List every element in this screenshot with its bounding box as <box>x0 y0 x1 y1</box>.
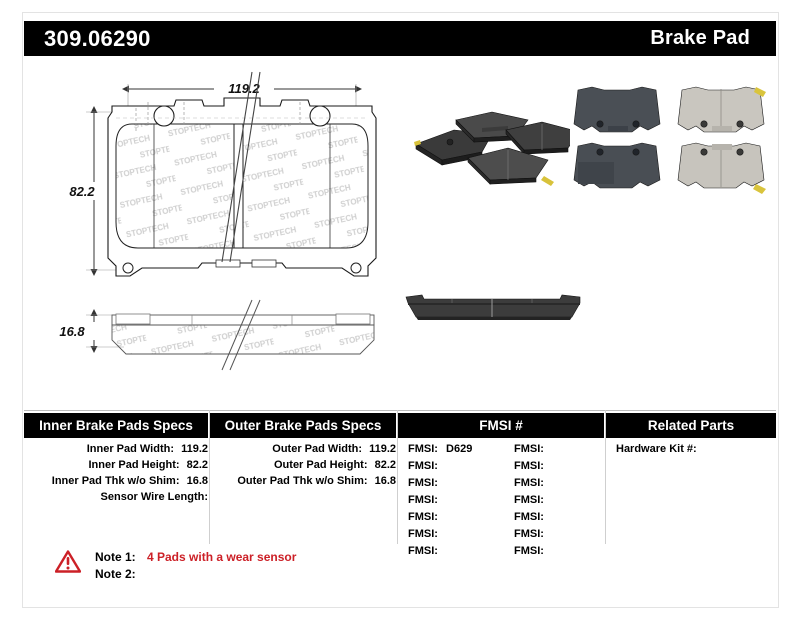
product-type: Brake Pad <box>650 27 750 50</box>
column-separator-2 <box>397 410 398 544</box>
related-hardware-kit-label: Hardware Kit #: <box>616 443 697 455</box>
outer-spec-height-value: 82.2 <box>371 459 396 471</box>
technical-drawing: STOPTECH STOPTECH 119.2 82.2 <box>24 62 404 382</box>
outer-spec-width-label: Outer Pad Width: <box>272 443 362 455</box>
column-separator-3 <box>605 410 606 544</box>
photo-grid-four-pads <box>570 84 776 198</box>
inner-spec-sensor-wire: Sensor Wire Length: <box>24 491 208 503</box>
column-header-outer: Outer Brake Pads Specs <box>210 413 396 438</box>
inner-spec-height-value: 82.2 <box>183 459 208 471</box>
inner-spec-thickness: Inner Pad Thk w/o Shim: 16.8 <box>24 475 208 487</box>
fmsi-left-0-value: D629 <box>441 443 472 455</box>
outer-spec-thickness-value: 16.8 <box>371 475 396 487</box>
outer-spec-thickness: Outer Pad Thk w/o Shim: 16.8 <box>210 475 396 487</box>
inner-spec-thickness-label: Inner Pad Thk w/o Shim: <box>52 475 180 487</box>
fmsi-left-1: FMSI: <box>408 460 438 472</box>
inner-spec-height: Inner Pad Height: 82.2 <box>24 459 208 471</box>
fmsi-right-1: FMSI: <box>514 460 544 472</box>
fmsi-left-6: FMSI: <box>408 545 438 557</box>
dimension-width-label: 119.2 <box>228 81 260 96</box>
note-1-value: 4 Pads with a wear sensor <box>147 550 296 564</box>
outer-spec-height: Outer Pad Height: 82.2 <box>210 459 396 471</box>
pad-side-view <box>112 300 374 370</box>
fmsi-right-4: FMSI: <box>514 511 544 523</box>
inner-spec-width-value: 119.2 <box>177 443 208 455</box>
photo-side-profile-pad <box>400 283 590 333</box>
column-header-inner: Inner Brake Pads Specs <box>24 413 208 438</box>
fmsi-right-6: FMSI: <box>514 545 544 557</box>
warning-triangle-icon <box>55 550 81 573</box>
note-1-label: Note 1: <box>95 550 136 564</box>
fmsi-left-3: FMSI: <box>408 494 438 506</box>
page-frame-bottom <box>22 607 779 608</box>
fmsi-right-0: FMSI: <box>514 443 544 455</box>
table-top-rule <box>24 410 776 411</box>
column-header-related: Related Parts <box>606 413 776 438</box>
spec-sheet-page: 309.06290 Brake Pad STOPTECH STOPTECH 11… <box>0 0 800 619</box>
spec-table: Inner Brake Pads Specs Outer Brake Pads … <box>24 410 776 545</box>
inner-spec-width: Inner Pad Width: 119.2 <box>24 443 208 455</box>
photo-angled-four-pads <box>404 86 590 194</box>
fmsi-left-4: FMSI: <box>408 511 438 523</box>
related-hardware-kit-value <box>697 443 701 455</box>
dimension-height-label: 82.2 <box>69 184 95 199</box>
column-header-fmsi: FMSI # <box>398 413 604 438</box>
outer-spec-width: Outer Pad Width: 119.2 <box>210 443 396 455</box>
part-number: 309.06290 <box>44 26 151 52</box>
fmsi-left-0-label: FMSI: <box>408 443 438 455</box>
header-bar: 309.06290 Brake Pad <box>24 21 776 56</box>
fmsi-right-3: FMSI: <box>514 494 544 506</box>
fmsi-left-5: FMSI: <box>408 528 438 540</box>
dimension-thickness-label: 16.8 <box>59 324 85 339</box>
outer-spec-width-value: 119.2 <box>365 443 396 455</box>
inner-spec-width-label: Inner Pad Width: <box>87 443 174 455</box>
pad-front-view <box>108 72 376 276</box>
fmsi-left-2: FMSI: <box>408 477 438 489</box>
fmsi-left-0: FMSI: D629 <box>408 443 472 455</box>
page-frame-left <box>22 12 23 607</box>
outer-spec-height-label: Outer Pad Height: <box>274 459 368 471</box>
inner-spec-thickness-value: 16.8 <box>183 475 208 487</box>
fmsi-right-2: FMSI: <box>514 477 544 489</box>
inner-spec-sensor-wire-label: Sensor Wire Length: <box>101 491 208 503</box>
related-hardware-kit: Hardware Kit #: <box>616 443 701 455</box>
note-2-label: Note 2: <box>95 567 136 581</box>
page-frame-right <box>778 12 779 607</box>
inner-spec-height-label: Inner Pad Height: <box>88 459 179 471</box>
fmsi-right-5: FMSI: <box>514 528 544 540</box>
page-frame-top <box>22 12 779 13</box>
outer-spec-thickness-label: Outer Pad Thk w/o Shim: <box>237 475 367 487</box>
